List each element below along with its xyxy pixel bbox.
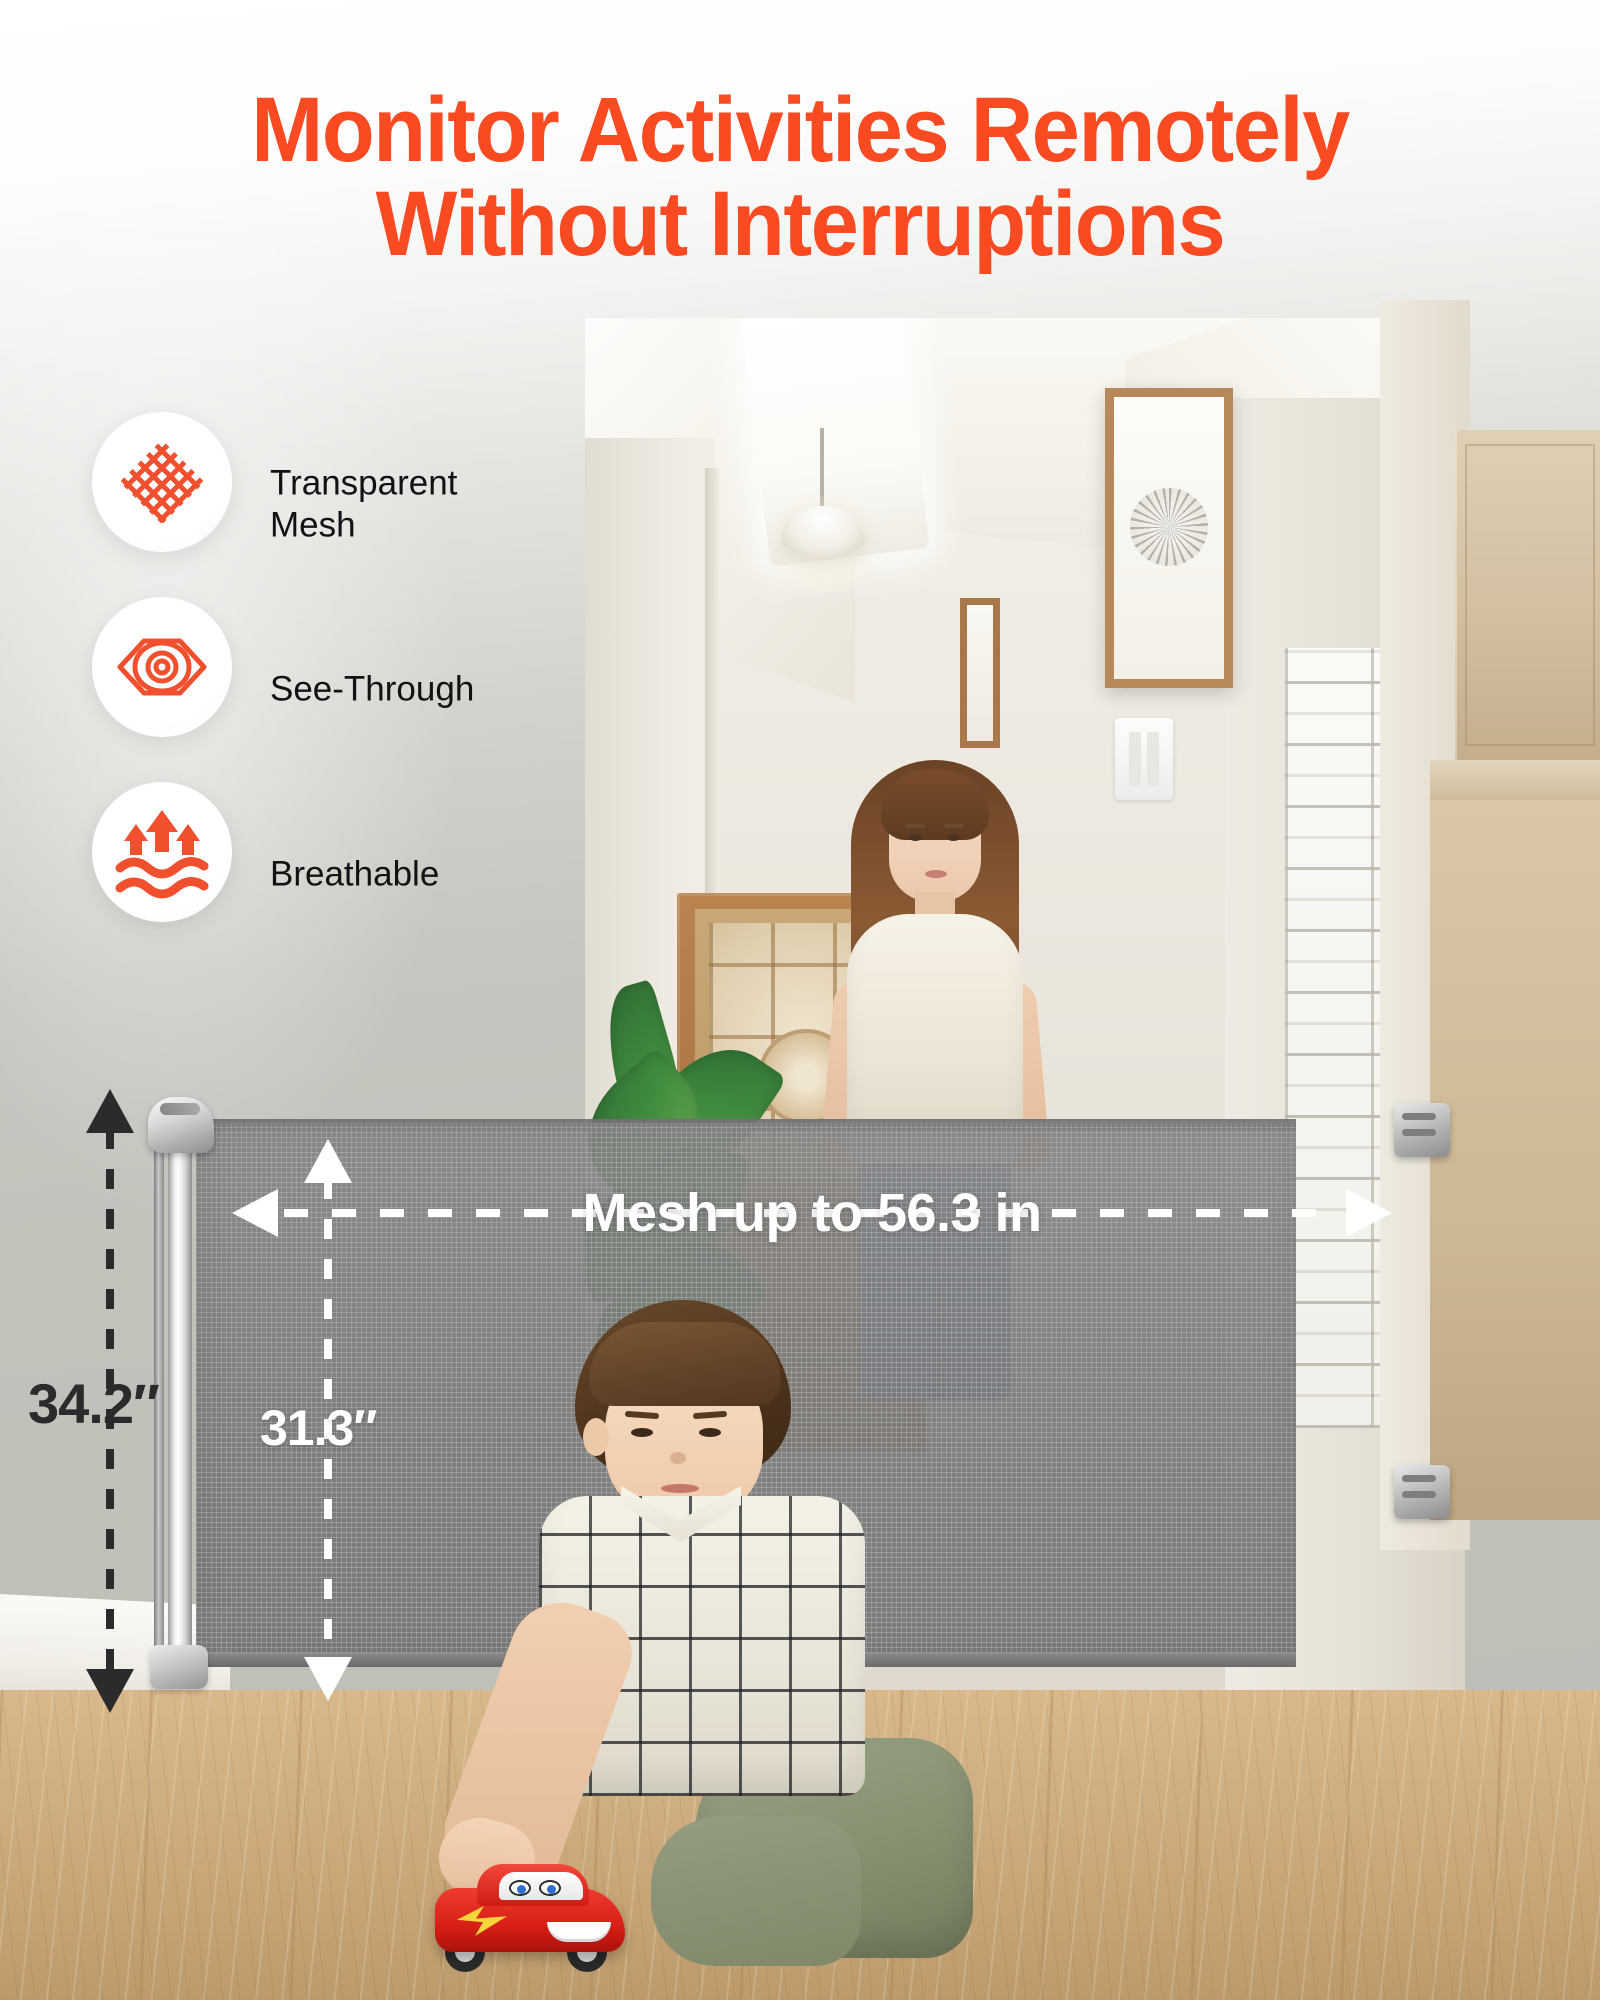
feature-label: Transparent Mesh xyxy=(270,462,457,547)
boy-fringe xyxy=(589,1322,781,1406)
arrow-right-icon xyxy=(1346,1189,1392,1237)
gate-latch-top xyxy=(1394,1103,1450,1157)
feature-item-breathable: Breathable xyxy=(92,782,562,967)
headline-line-2: Without Interruptions xyxy=(48,178,1552,272)
breathable-icon xyxy=(110,800,214,904)
dimension-label-mesh-width: Mesh up to 56.3 in xyxy=(560,1182,1063,1244)
eye-icon xyxy=(110,615,214,719)
framed-art-small xyxy=(960,598,1000,748)
product-marketing-image: Monitor Activities Remotely Without Inte… xyxy=(0,0,1600,2000)
arrow-down-icon xyxy=(86,1669,134,1713)
boy-sitting xyxy=(455,1300,975,2000)
dimension-label-mesh-height: 31.3″ xyxy=(260,1399,376,1457)
kitchen-upper-cabinet xyxy=(1455,430,1600,760)
feature-badge xyxy=(92,597,232,737)
dimension-gate-height: 34.2″ xyxy=(70,1085,250,1715)
toy-race-car xyxy=(435,1860,625,1970)
feature-label: Breathable xyxy=(270,853,439,896)
woman-fringe xyxy=(881,770,989,840)
feature-badge xyxy=(92,782,232,922)
feature-item-transparent-mesh: Transparent Mesh xyxy=(92,412,562,597)
arrow-up-icon xyxy=(304,1139,352,1183)
car-smile xyxy=(547,1922,611,1942)
feature-label: See-Through xyxy=(270,668,474,711)
mesh-grid-icon xyxy=(110,430,214,534)
dimension-label-gate-height: 34.2″ xyxy=(28,1371,159,1436)
kitchen-lower-cabinet xyxy=(1430,800,1600,1520)
kitchen-counter xyxy=(1430,760,1600,804)
light-switch-plate xyxy=(1115,718,1173,800)
dimension-mesh-width: Mesh up to 56.3 in xyxy=(232,1178,1392,1248)
feature-list: Transparent Mesh See-Through xyxy=(92,412,562,967)
boy-pants-fold xyxy=(651,1816,861,1966)
arrow-down-icon xyxy=(304,1657,352,1701)
framed-art-large xyxy=(1105,388,1233,688)
headline-line-1: Monitor Activities Remotely xyxy=(251,79,1349,181)
arrow-left-icon xyxy=(232,1189,278,1237)
art-illustration xyxy=(1130,488,1208,566)
gate-latch-bottom xyxy=(1394,1465,1450,1519)
feature-item-see-through: See-Through xyxy=(92,597,562,782)
feature-badge xyxy=(92,412,232,552)
page-title: Monitor Activities Remotely Without Inte… xyxy=(48,84,1552,272)
arrow-up-icon xyxy=(86,1089,134,1133)
